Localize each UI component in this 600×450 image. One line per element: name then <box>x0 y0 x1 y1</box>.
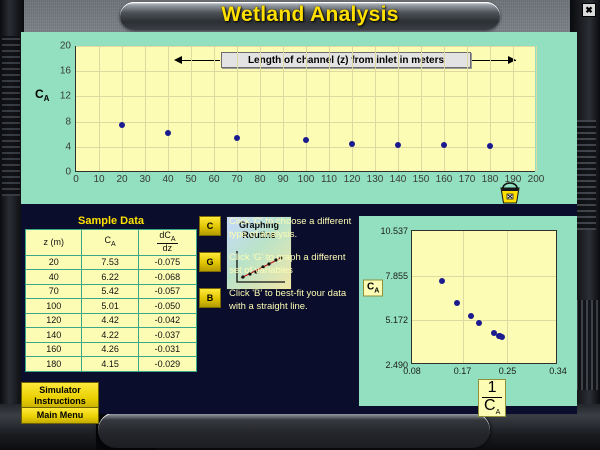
cell-z: 70 <box>26 284 82 299</box>
cell-dcadz: -0.037 <box>138 328 196 343</box>
cell-dcadz: -0.050 <box>138 299 196 314</box>
cell-z: 100 <box>26 299 82 314</box>
close-icon[interactable]: ✖ <box>582 3 596 17</box>
action-button-b[interactable]: B <box>199 288 221 308</box>
cell-z: 160 <box>26 342 82 357</box>
data-point <box>499 334 505 340</box>
secondary-chart-panel: CA 0.080.170.250.342.4905.1727.85510.537… <box>359 216 577 406</box>
cell-z: 180 <box>26 357 82 372</box>
gridline-vertical <box>375 46 376 171</box>
cell-dcadz: -0.029 <box>138 357 196 372</box>
gridline-vertical <box>191 46 192 171</box>
gridline-horizontal <box>412 320 556 321</box>
main-menu-button[interactable]: Main Menu <box>21 407 99 424</box>
gridline-vertical <box>122 46 123 171</box>
x-axis-tick-label: 30 <box>139 174 150 185</box>
cell-z: 20 <box>26 255 82 270</box>
application-window: Wetland Analysis ✖ CA Length of channel … <box>0 0 600 450</box>
x-axis-tick-label: 10 <box>93 174 104 185</box>
gridline-vertical <box>398 46 399 171</box>
gridline-horizontal <box>76 96 535 97</box>
cell-z: 140 <box>26 328 82 343</box>
data-point <box>476 320 482 326</box>
column-header-z: z (m) <box>26 230 82 256</box>
data-point <box>454 300 460 306</box>
y-axis-tick-label: 8 <box>65 116 71 127</box>
gridline-vertical <box>260 46 261 171</box>
x-axis-tick-label: 0 <box>73 174 79 185</box>
x-axis-tick-label: 80 <box>254 174 265 185</box>
data-point <box>165 130 171 136</box>
gridline-vertical <box>283 46 284 171</box>
app-screen: CA Length of channel (z) from inlet in m… <box>21 32 577 414</box>
table-row: 1804.15-0.029 <box>26 357 197 372</box>
gridline-vertical <box>237 46 238 171</box>
table-header-row: z (m) CA dCA dz <box>26 230 197 256</box>
gridline-horizontal <box>412 276 556 277</box>
gridline-horizontal <box>76 46 535 47</box>
cell-dcadz: -0.057 <box>138 284 196 299</box>
cell-ca: 4.26 <box>82 342 138 357</box>
cell-ca: 4.15 <box>82 357 138 372</box>
secondary-chart-x-axis-title: 1 CA <box>478 379 506 417</box>
gridline-vertical <box>329 46 330 171</box>
data-point <box>234 135 240 141</box>
column-header-dcadz: dCA dz <box>138 230 196 256</box>
y-axis-tick-label: 7.855 <box>385 271 408 281</box>
x-axis-tick-label: 110 <box>321 174 337 185</box>
x-axis-tick-label: 180 <box>482 174 499 185</box>
x-axis-tick-label: 0.17 <box>454 366 472 376</box>
gridline-vertical <box>467 46 468 171</box>
gridline-vertical <box>507 231 508 363</box>
main-chart-y-axis-title: CA <box>35 87 49 103</box>
sample-data-table: z (m) CA dCA dz 207.53-0.075406.22-0.068… <box>25 229 197 372</box>
secondary-chart-y-axis-title: CA <box>363 280 383 297</box>
table-row: 705.42-0.057 <box>26 284 197 299</box>
gridline-vertical <box>421 46 422 171</box>
gridline-horizontal <box>76 147 535 148</box>
gridline-vertical <box>352 46 353 171</box>
x-axis-tick-label: 120 <box>344 174 361 185</box>
cell-ca: 4.42 <box>82 313 138 328</box>
y-axis-tick-label: 0 <box>65 167 71 178</box>
cell-ca: 5.42 <box>82 284 138 299</box>
cell-ca: 4.22 <box>82 328 138 343</box>
y-axis-tick-label: 2.490 <box>385 360 408 370</box>
gridline-vertical <box>444 46 445 171</box>
gridline-vertical <box>168 46 169 171</box>
x-axis-tick-label: 60 <box>208 174 219 185</box>
x-axis-tick-label: 130 <box>367 174 384 185</box>
x-axis-tick-label: 170 <box>459 174 476 185</box>
table-row: 1404.22-0.037 <box>26 328 197 343</box>
table-row: 406.22-0.068 <box>26 270 197 285</box>
gridline-vertical <box>306 46 307 171</box>
simulator-instructions-button[interactable]: Simulator Instructions <box>21 382 99 410</box>
page-title: Wetland Analysis <box>120 1 500 29</box>
column-header-ca: CA <box>82 230 138 256</box>
table-row: 1604.26-0.031 <box>26 342 197 357</box>
data-point <box>439 278 445 284</box>
data-point <box>441 142 447 148</box>
window-frame-bottom-bar <box>98 412 490 448</box>
table-row: 207.53-0.075 <box>26 255 197 270</box>
cell-z: 40 <box>26 270 82 285</box>
y-axis-tick-label: 16 <box>60 66 71 77</box>
data-point <box>119 122 125 128</box>
table-row: 1005.01-0.050 <box>26 299 197 314</box>
x-axis-tick-label: 0.34 <box>549 366 567 376</box>
gridline-vertical <box>490 46 491 171</box>
x-axis-tick-label: 70 <box>231 174 242 185</box>
gridline-vertical <box>99 46 100 171</box>
cell-dcadz: -0.042 <box>138 313 196 328</box>
x-axis-tick-label: 40 <box>162 174 173 185</box>
action-button-c[interactable]: C <box>199 216 221 236</box>
cell-z: 120 <box>26 313 82 328</box>
main-chart-callout-label: Length of channel (z) from inlet in mete… <box>221 52 471 68</box>
x-axis-tick-label: 20 <box>116 174 127 185</box>
table-row: 1204.42-0.042 <box>26 313 197 328</box>
x-axis-tick-label: 90 <box>277 174 288 185</box>
y-axis-tick-label: 12 <box>60 91 71 102</box>
main-chart-panel: CA Length of channel (z) from inlet in m… <box>21 32 577 204</box>
gridline-vertical <box>513 46 514 171</box>
cell-ca: 6.22 <box>82 270 138 285</box>
gridline-horizontal <box>76 71 535 72</box>
action-button-g[interactable]: G <box>199 252 221 272</box>
data-point <box>487 143 493 149</box>
sample-data-title: Sample Data <box>21 215 201 227</box>
y-axis-tick-label: 10.537 <box>380 226 408 236</box>
gridline-vertical <box>214 46 215 171</box>
y-axis-tick-label: 20 <box>60 41 71 52</box>
arrowhead-right-icon <box>508 56 516 64</box>
bucket-icon[interactable] <box>497 182 523 204</box>
action-description-b: Click 'B' to best-fit your data with a s… <box>229 288 359 314</box>
x-axis-tick-label: 50 <box>185 174 196 185</box>
x-axis-tick-label: 200 <box>528 174 545 185</box>
secondary-chart-plot-area: 0.080.170.250.342.4905.1727.85510.537 <box>411 230 557 364</box>
y-axis-tick-label: 4 <box>65 141 71 152</box>
gridline-vertical <box>463 231 464 363</box>
action-description-g: Click 'G' to graph a different set of va… <box>229 252 359 278</box>
cell-dcadz: -0.075 <box>138 255 196 270</box>
arrowhead-left-icon <box>174 56 182 64</box>
data-point <box>349 141 355 147</box>
cell-ca: 7.53 <box>82 255 138 270</box>
cell-dcadz: -0.031 <box>138 342 196 357</box>
action-description-c: Click 'C' to choose a different type of … <box>229 216 359 242</box>
gridline-vertical <box>536 46 537 171</box>
cell-dcadz: -0.068 <box>138 270 196 285</box>
data-point <box>468 313 474 319</box>
gridline-vertical <box>145 46 146 171</box>
x-axis-tick-label: 160 <box>436 174 453 185</box>
main-chart-plot-area: Length of channel (z) from inlet in mete… <box>75 46 535 172</box>
data-point <box>303 137 309 143</box>
gridline-horizontal <box>76 122 535 123</box>
y-axis-tick-label: 5.172 <box>385 315 408 325</box>
x-axis-tick-label: 0.25 <box>499 366 517 376</box>
x-axis-tick-label: 100 <box>298 174 315 185</box>
x-axis-tick-label: 150 <box>413 174 430 185</box>
cell-ca: 5.01 <box>82 299 138 314</box>
data-point <box>395 142 401 148</box>
x-axis-tick-label: 140 <box>390 174 407 185</box>
